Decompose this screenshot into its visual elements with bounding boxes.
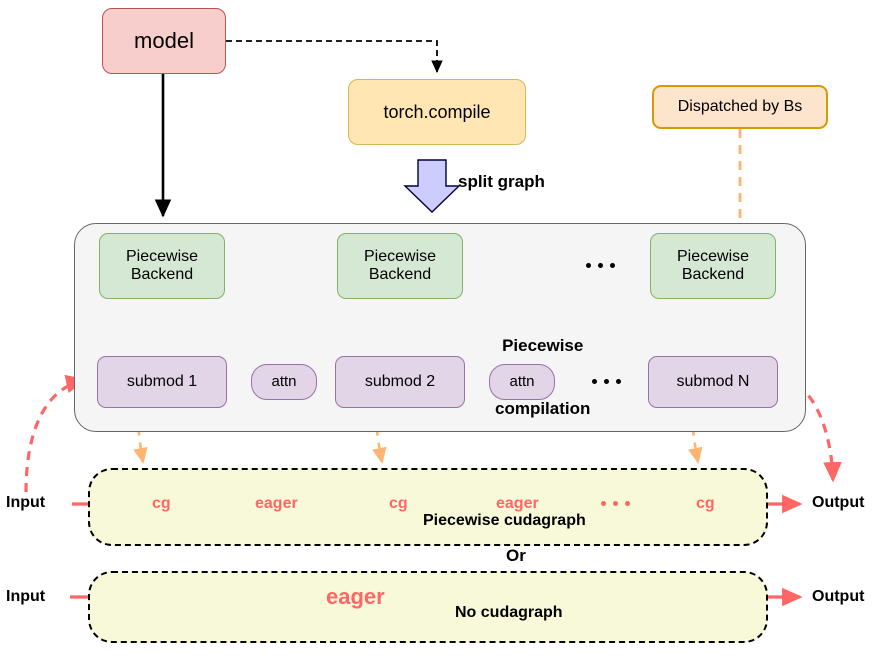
node-submod-1-label: submod 1 [127,373,197,391]
node-attn-1[interactable]: attn [251,364,317,400]
diagram-canvas: model torch.compile Dispatched by Bs Pie… [0,0,874,663]
node-piecewise-backend-1[interactable]: PiecewiseBackend [99,233,225,299]
dot [616,379,621,384]
stage-cg-n: cg [696,495,715,513]
node-submod-n[interactable]: submod N [648,356,778,408]
edge-model-to-compile [226,41,437,72]
node-submod-2[interactable]: submod 2 [335,356,465,408]
node-piecewise-backend-n[interactable]: PiecewiseBackend [650,233,776,299]
node-torch-compile-label: torch.compile [383,102,490,123]
label-output-top: Output [812,494,864,512]
stage-cg-2: cg [389,495,408,513]
dot [604,379,609,384]
node-piecewise-backend-n-label: PiecewiseBackend [677,248,749,285]
dot [586,263,591,268]
node-torch-compile[interactable]: torch.compile [348,79,526,145]
ellipsis-cudagraph-row [601,501,630,506]
label-input-top: Input [6,494,45,512]
node-piecewise-backend-1-label: PiecewiseBackend [126,248,198,285]
ellipsis-submod-row [592,379,621,384]
node-piecewise-backend-2-label: PiecewiseBackend [364,248,436,285]
node-piecewise-backend-2[interactable]: PiecewiseBackend [337,233,463,299]
piecewise-cudagraph-band [88,468,768,546]
node-attn-1-label: attn [271,373,296,390]
dot [592,379,597,384]
stage-cg-1: cg [152,495,171,513]
dot [601,501,606,506]
node-submod-1[interactable]: submod 1 [97,356,227,408]
node-model[interactable]: model [102,8,226,74]
dot [610,263,615,268]
label-or: Or [506,546,526,566]
split-graph-arrow [405,160,459,212]
label-piecewise-compilation-line1: Piecewise [495,335,590,356]
stage-eager-1: eager [255,495,298,513]
node-dispatched-by-bs-label: Dispatched by Bs [678,98,803,116]
label-piecewise-cudagraph: Piecewise cudagraph [423,512,586,530]
label-split-graph: split graph [458,172,545,192]
node-submod-2-label: submod 2 [365,373,435,391]
no-cudagraph-band [88,571,768,643]
node-model-label: model [134,28,194,53]
label-input-bottom: Input [6,588,45,606]
node-submod-n-label: submod N [677,373,750,391]
dot [625,501,630,506]
stage-eager-bottom: eager [326,584,385,610]
dot [598,263,603,268]
node-dispatched-by-bs[interactable]: Dispatched by Bs [652,85,828,129]
label-piecewise-compilation-line2: compilation [495,398,590,419]
dot [613,501,618,506]
label-piecewise-compilation: Piecewise compilation [495,292,590,462]
label-no-cudagraph: No cudagraph [455,604,563,622]
stage-eager-2: eager [496,495,539,513]
ellipsis-backend-row [586,263,615,268]
label-output-bottom: Output [812,588,864,606]
